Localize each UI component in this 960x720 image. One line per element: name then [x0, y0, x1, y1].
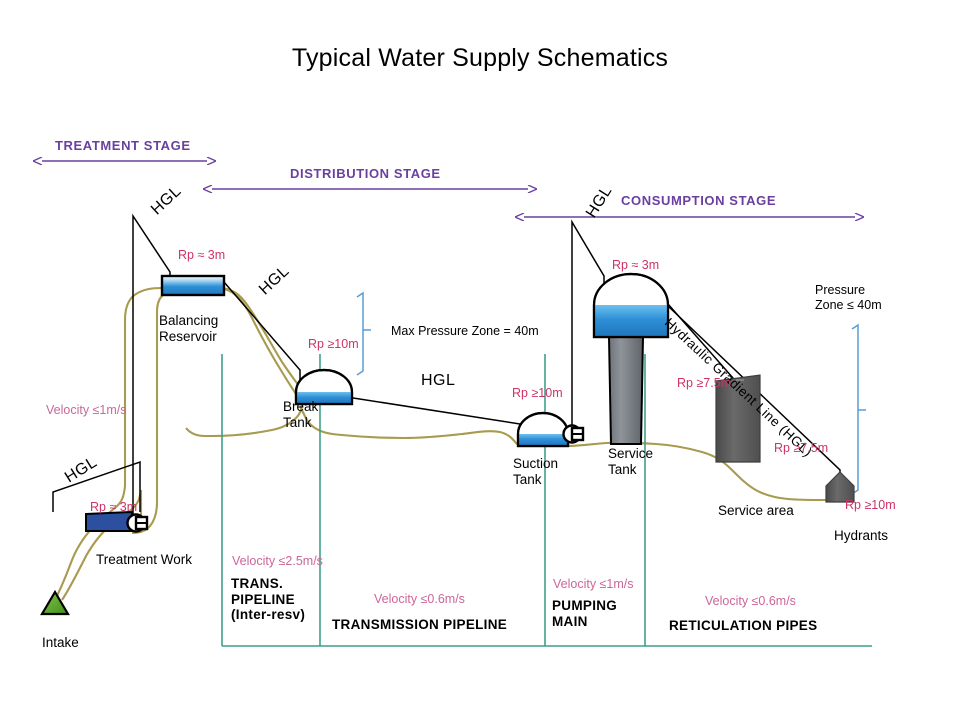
stage-label-consumption: CONSUMPTION STAGE — [621, 193, 776, 208]
annotation-max-pressure-zone: Max Pressure Zone = 40m — [391, 324, 539, 339]
asset-label-hydrants: Hydrants — [834, 528, 888, 544]
ground-reservoir-to-break — [224, 289, 296, 404]
rp-label-service-tank: Rp ≈ 3m — [612, 258, 659, 273]
annotation-pressure-zone: Pressure Zone ≤ 40m — [815, 283, 882, 312]
rp-label-reticulation: Rp ≥7.5m — [774, 441, 828, 456]
diagram-canvas: Typical Water Supply Schematics — [0, 0, 960, 720]
pump-icon-suction — [564, 426, 584, 443]
max-pressure-zone-bracket — [357, 293, 371, 375]
balancing-reservoir-tank — [162, 276, 224, 295]
pump-icon-treatment — [128, 515, 148, 532]
asset-label-intake: Intake — [42, 635, 79, 651]
velocity-label-reticulation-pipes: Velocity ≤0.6m/s — [705, 594, 796, 609]
velocity-label-raw-water: Velocity ≤1m/s — [46, 403, 127, 418]
treatment-work-tank — [86, 512, 132, 531]
stage-label-treatment: TREATMENT STAGE — [55, 138, 191, 153]
section-title-pumping-main: PUMPING MAIN — [552, 598, 617, 629]
velocity-label-transmission-pipeline: Velocity ≤0.6m/s — [374, 592, 465, 607]
rp-label-treatment-work: Rp ≈ 3m — [90, 500, 137, 515]
pressure-zone-bracket — [852, 325, 866, 494]
schematic-drawing — [0, 0, 960, 720]
asset-label-suction-tank: Suction Tank — [513, 456, 558, 487]
rp-label-suction-tank: Rp ≥10m — [512, 386, 563, 401]
section-title-reticulation-pipes: RETICULATION PIPES — [669, 618, 817, 634]
hgl-label-transmission: HGL — [421, 372, 455, 391]
asset-label-service-area: Service area — [718, 503, 794, 519]
asset-label-balancing-reservoir: Balancing Reservoir — [159, 313, 218, 344]
section-title-trans-pipeline: TRANS. PIPELINE (Inter-resv) — [231, 576, 305, 623]
velocity-label-pumping-main: Velocity ≤1m/s — [553, 577, 634, 592]
asset-label-treatment-work: Treatment Work — [96, 552, 192, 568]
suction-tank-symbol — [518, 413, 568, 446]
rp-label-break-tank: Rp ≥10m — [308, 337, 359, 352]
stage-label-distribution: DISTRIBUTION STAGE — [290, 166, 441, 181]
rp-label-hydrants: Rp ≥10m — [845, 498, 896, 513]
section-title-transmission-pipeline: TRANSMISSION PIPELINE — [332, 617, 507, 633]
service-tank-symbol — [594, 274, 668, 444]
hgl-line-trans-pipeline — [133, 216, 170, 520]
rp-label-service-area: Rp ≥7.5m — [677, 376, 731, 391]
asset-label-service-tank: Service Tank — [608, 446, 653, 477]
velocity-label-trans-pipeline: Velocity ≤2.5m/s — [232, 554, 323, 569]
rp-label-balancing-reservoir: Rp ≈ 3m — [178, 248, 225, 263]
asset-label-break-tank: Break Tank — [283, 399, 318, 430]
ground-break-to-suction — [300, 406, 520, 446]
